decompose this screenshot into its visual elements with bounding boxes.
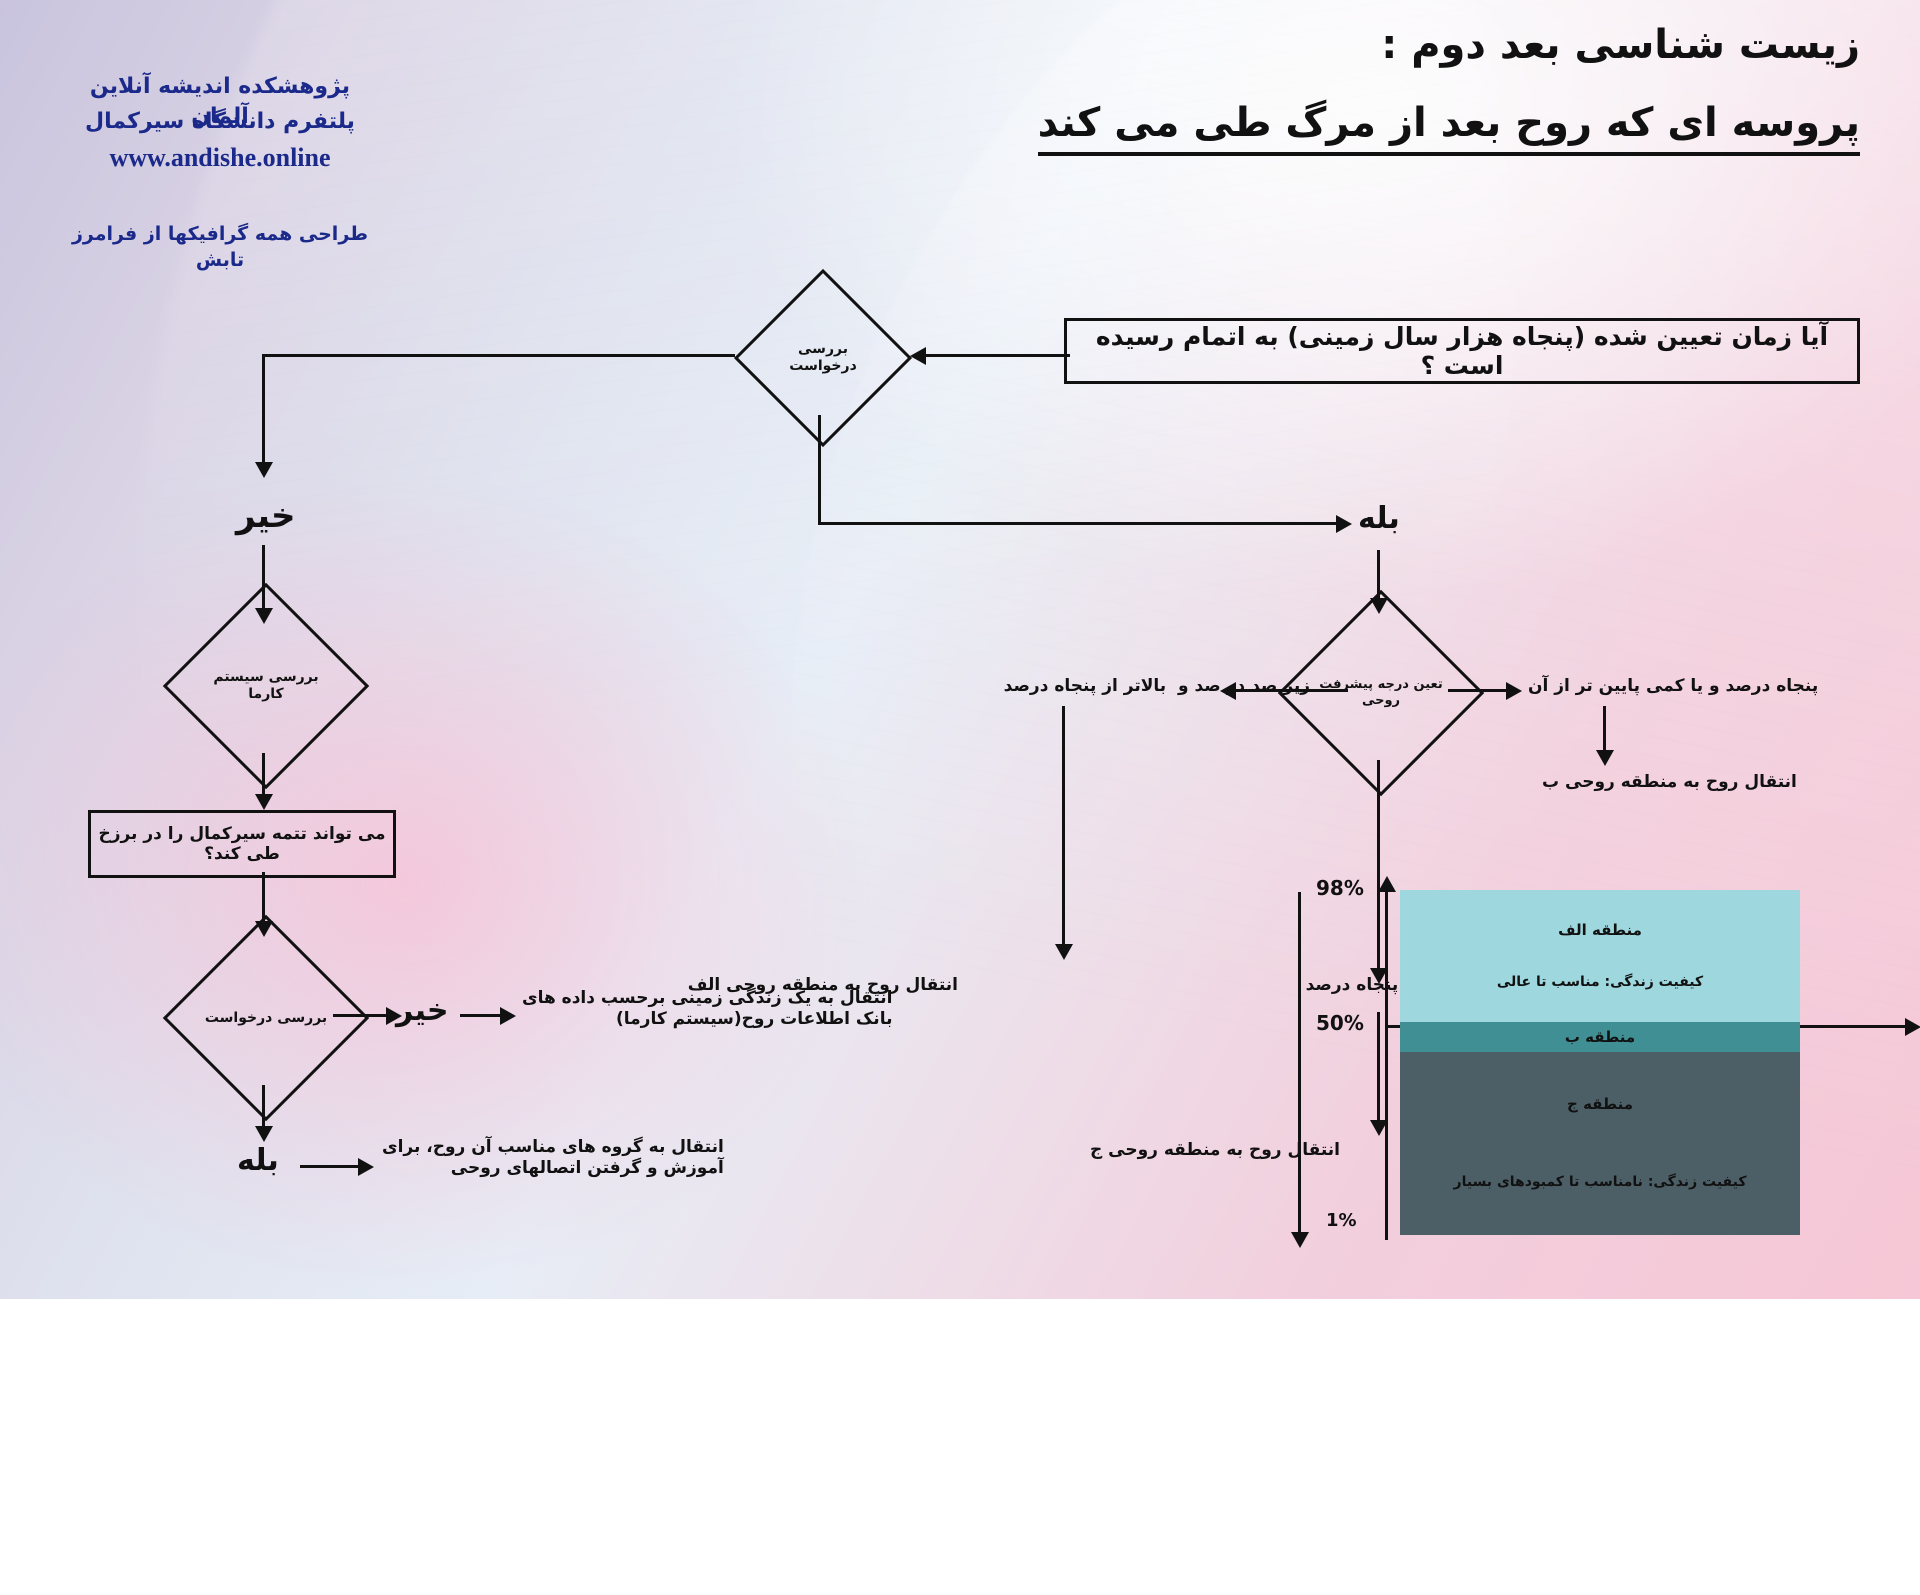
decision-request-top-label: بررسی درخواست [763,298,883,418]
label-yes-bottom: بله [237,1142,279,1180]
decision-spiritual-progress-label: تعین درجه پیشرفت روحی [1311,623,1451,763]
label-no-top: خیر [236,495,296,538]
start-question-box: آیا زمان تعیین شده (پنجاه هزار سال زمینی… [1064,318,1860,384]
background-pink-glow [0,364,998,1403]
arrow-left-down-1 [255,462,273,478]
connector-decision-bottom-no [333,1014,388,1017]
brand-website[interactable]: www.andishe.online [60,140,380,175]
zone-jim: منطقه ج کیفیت زندگی: نامناسب تا کمبودهای… [1400,1052,1800,1235]
zone-quality-chart: 98% 50% 1% منطقه الف کیفیت زندگی: مناسب … [1290,880,1910,1260]
zone-jim-desc: کیفیت زندگی: نامناسب تا کمبودهای بسیار [1454,1173,1747,1191]
arrow-branch-right-down [1596,750,1614,766]
label-branch-right: پنجاه درصد و یا کمی پایین تر از آن [1528,676,1818,697]
connector-progress-right [1448,689,1508,692]
connector-branch-left-down [1062,706,1065,951]
arrow-top-yes-right [1336,515,1352,533]
brand-line2: پلتفرم دانشگاه سیرکمال [60,107,380,137]
decision-karma-label: بررسی سیستم کارما [196,616,336,756]
outcome-zone-alef: انتقال روح به منطقه روحی الف [688,975,958,996]
zone-alef-label: منطقه الف [1558,921,1642,939]
arrow-progress-right [1506,682,1522,700]
chart-tick-1: 1% [1326,1210,1357,1231]
page-title-line2-wrap: پروسه ای که روح بعد از مرگ طی می کند [1038,98,1860,156]
arrow-karma-to-box [255,794,273,810]
zone-jim-label: منطقه ج [1567,1095,1633,1113]
zone-alef: منطقه الف کیفیت زندگی: مناسب تا عالی [1400,890,1800,1022]
zone-be-label: منطقه ب [1565,1028,1635,1046]
arrow-yes-bottom-to-outcome [358,1158,374,1176]
connector-decision-top-down [818,415,821,525]
label-yes-top: بله [1358,500,1400,538]
chart-tick-98: 98% [1316,876,1364,900]
chart-tick-50: 50% [1316,1011,1364,1035]
connector-no-bottom-to-outcome [460,1014,502,1017]
decision-request-bottom-label: بررسی درخواست [196,948,336,1088]
connector-decision-top-left [262,354,735,357]
zone-alef-desc: کیفیت زندگی: مناسب تا عالی [1497,973,1703,991]
connector-start-to-decision [925,354,1070,357]
chart-axis-50-arrow [1905,1018,1920,1036]
brand-credit: طراحی همه گرافیکها از فرامرز تابش [50,222,390,273]
arrow-decision-bottom-yes [255,1126,273,1142]
zone-be: منطقه ب [1400,1022,1800,1052]
barzakh-question-box: می تواند تتمه سیرکمال را در برزخ طی کند؟ [88,810,396,878]
chart-axis-outer [1298,892,1301,1237]
arrow-branch-left-down [1055,944,1073,960]
page-title-line1: زیست شناسی بعد دوم : [1381,20,1860,70]
connector-left-down-1 [262,354,265,466]
chart-axis-inner [1385,890,1388,1240]
arrow-start-to-decision [910,347,926,365]
page-title-line2: پروسه ای که روح بعد از مرگ طی می کند [1038,98,1860,156]
label-branch-left: زیر صد در صد و بالاتر از پنجاه درصد [1004,676,1310,697]
outcome-zone-be: انتقال روح به منطقه روحی ب [1542,772,1797,793]
chart-axis-arrow-down [1291,1232,1309,1248]
connector-yes-bottom-to-outcome [300,1165,360,1168]
connector-top-yes-right [818,522,1338,525]
arrow-no-bottom-to-outcome [500,1007,516,1025]
outcome-yes-bottom: انتقال به گروه های مناسب آن روح، برای آم… [382,1137,724,1180]
label-no-bottom: خیر [396,992,449,1030]
